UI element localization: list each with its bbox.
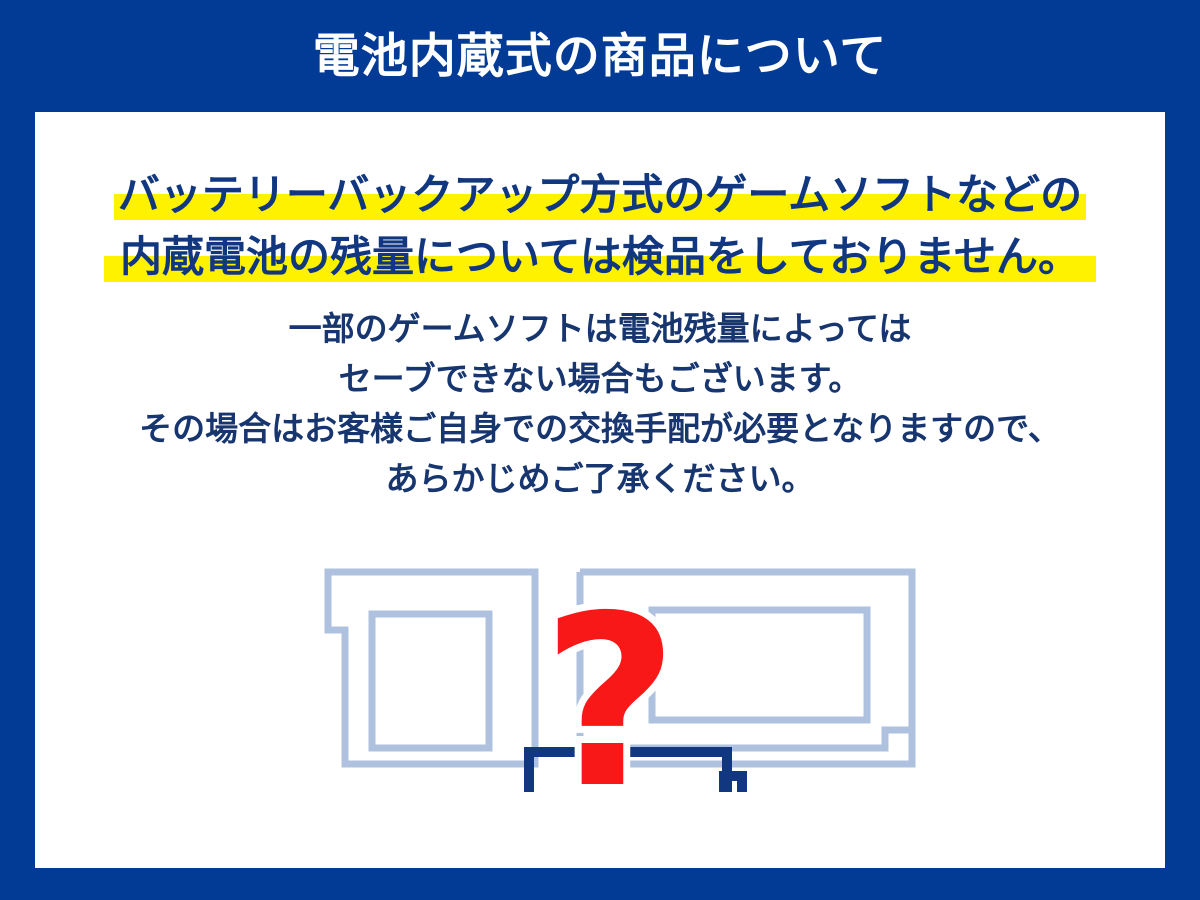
body-line-2: セーブできない場合もございます。 xyxy=(35,354,1165,404)
body-text-block: 一部のゲームソフトは電池残量によっては セーブできない場合もございます。 その場… xyxy=(35,304,1165,504)
svg-text:?: ? xyxy=(542,565,679,792)
game-cartridge-portrait-icon xyxy=(328,572,535,764)
headline-block: バッテリーバックアップ方式のゲームソフトなどの 内蔵電池の残量については検品をし… xyxy=(35,164,1165,288)
poster-root: 電池内蔵式の商品について バッテリーバックアップ方式のゲームソフトなどの 内蔵電… xyxy=(0,0,1200,900)
headline-line-1-text: バッテリーバックアップ方式のゲームソフトなどの xyxy=(118,170,1082,219)
headline-line-2-text: 内蔵電池の残量については検品をしておりません。 xyxy=(120,232,1080,281)
body-line-1: 一部のゲームソフトは電池残量によっては xyxy=(35,304,1165,354)
headline-line-2: 内蔵電池の残量については検品をしておりません。 xyxy=(35,226,1165,288)
body-line-3: その場合はお客様ご自身での交換手配が必要となりますので、 xyxy=(35,404,1165,454)
question-mark-icon: ? xyxy=(542,565,679,792)
headline-line-1: バッテリーバックアップ方式のゲームソフトなどの xyxy=(35,164,1165,226)
content-panel: バッテリーバックアップ方式のゲームソフトなどの 内蔵電池の残量については検品をし… xyxy=(35,112,1165,868)
body-line-4: あらかじめご了承ください。 xyxy=(35,454,1165,504)
page-title: 電池内蔵式の商品について xyxy=(313,33,888,80)
title-bar: 電池内蔵式の商品について xyxy=(0,0,1200,112)
illustration: ? xyxy=(300,552,940,792)
